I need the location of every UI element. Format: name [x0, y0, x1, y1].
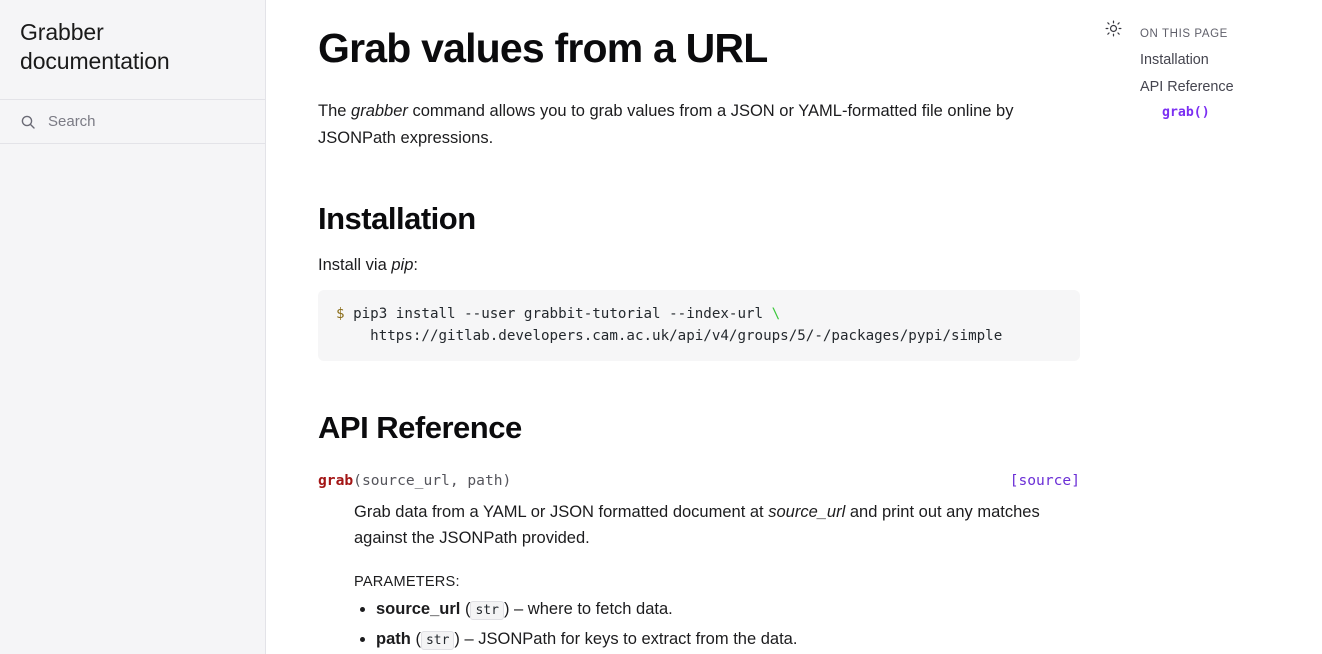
parameter-item: source_url (str) – where to fetch data.: [376, 594, 1080, 625]
intro-emphasis-grabber: grabber: [351, 102, 408, 120]
intro-text-part2: command allows you to grab values from a…: [318, 102, 1013, 147]
parameter-name: path: [376, 630, 411, 648]
api-description-emphasis-source-url: source_url: [768, 503, 845, 521]
install-via-line: Install via pip:: [318, 253, 1080, 278]
section-title-installation: Installation: [318, 200, 1080, 237]
install-line-emphasis-pip: pip: [391, 256, 413, 274]
page-title: Grab values from a URL: [318, 26, 1080, 72]
sidebar-brand[interactable]: Grabber documentation: [0, 0, 265, 100]
toc-link-grab[interactable]: grab(): [1162, 105, 1210, 120]
documentation-page: Grabber documentation Search: [0, 0, 1322, 654]
toc-item-grab: grab(): [1140, 103, 1308, 121]
code-command-line2: https://gitlab.developers.cam.ac.uk/api/…: [336, 328, 1002, 344]
install-line-suffix: :: [413, 256, 418, 274]
code-line-continuation: \: [772, 306, 781, 322]
api-description: Grab data from a YAML or JSON formatted …: [354, 499, 1080, 552]
parameter-close-paren: ): [504, 600, 510, 618]
api-parameters: source_url, path: [362, 472, 503, 489]
article: Grab values from a URL The grabber comma…: [266, 0, 1132, 654]
toc-link-installation[interactable]: Installation: [1140, 50, 1209, 72]
parameter-type: str: [470, 601, 503, 620]
parameter-description: – where to fetch data.: [514, 600, 673, 618]
parameters-label: PARAMETERS:: [354, 574, 1080, 590]
code-prompt-symbol: $: [336, 306, 345, 322]
parameter-close-paren: ): [454, 630, 460, 648]
parameter-description: – JSONPath for keys to extract from the …: [465, 630, 798, 648]
parameter-name: source_url: [376, 600, 460, 618]
on-this-page-toc: ON THIS PAGE Installation API Reference …: [1126, 0, 1322, 654]
toc-heading: ON THIS PAGE: [1140, 28, 1308, 40]
search-placeholder: Search: [48, 114, 96, 129]
sidebar-nav: [0, 144, 265, 654]
left-sidebar: Grabber documentation Search: [0, 0, 266, 654]
toc-item-installation: Installation: [1140, 50, 1308, 72]
api-body: Grab data from a YAML or JSON formatted …: [318, 499, 1080, 654]
parameters-list: source_url (str) – where to fetch data. …: [354, 594, 1080, 654]
api-open-paren: (: [353, 472, 362, 489]
api-signature-row: grab(source_url, path) [source]: [318, 472, 1080, 489]
parameter-type: str: [421, 631, 454, 650]
section-title-api-reference: API Reference: [318, 409, 1080, 446]
theme-toggle-button[interactable]: [1100, 18, 1126, 44]
toc-list: Installation API Reference grab(): [1140, 50, 1308, 121]
intro-paragraph: The grabber command allows you to grab v…: [318, 98, 1080, 152]
toc-item-api-reference: API Reference: [1140, 77, 1308, 99]
api-close-paren: ): [503, 472, 512, 489]
sidebar-brand-title: Grabber documentation: [20, 18, 245, 77]
install-line-prefix: Install via: [318, 256, 391, 274]
source-link[interactable]: [source]: [1010, 472, 1080, 489]
intro-text-part1: The: [318, 102, 351, 120]
toc-link-api-reference[interactable]: API Reference: [1140, 77, 1234, 99]
search-icon: [20, 114, 36, 130]
sun-icon: [1105, 20, 1122, 42]
search-input[interactable]: Search: [0, 100, 265, 144]
api-signature: grab(source_url, path): [318, 472, 511, 489]
parameter-item: path (str) – JSONPath for keys to extrac…: [376, 624, 1080, 654]
api-function-name: grab: [318, 472, 353, 489]
install-code-block[interactable]: $ pip3 install --user grabbit-tutorial -…: [318, 290, 1080, 361]
main-content: Grab values from a URL The grabber comma…: [266, 0, 1322, 654]
api-description-part1: Grab data from a YAML or JSON formatted …: [354, 503, 768, 521]
code-command-line1: pip3 install --user grabbit-tutorial --i…: [345, 306, 772, 322]
